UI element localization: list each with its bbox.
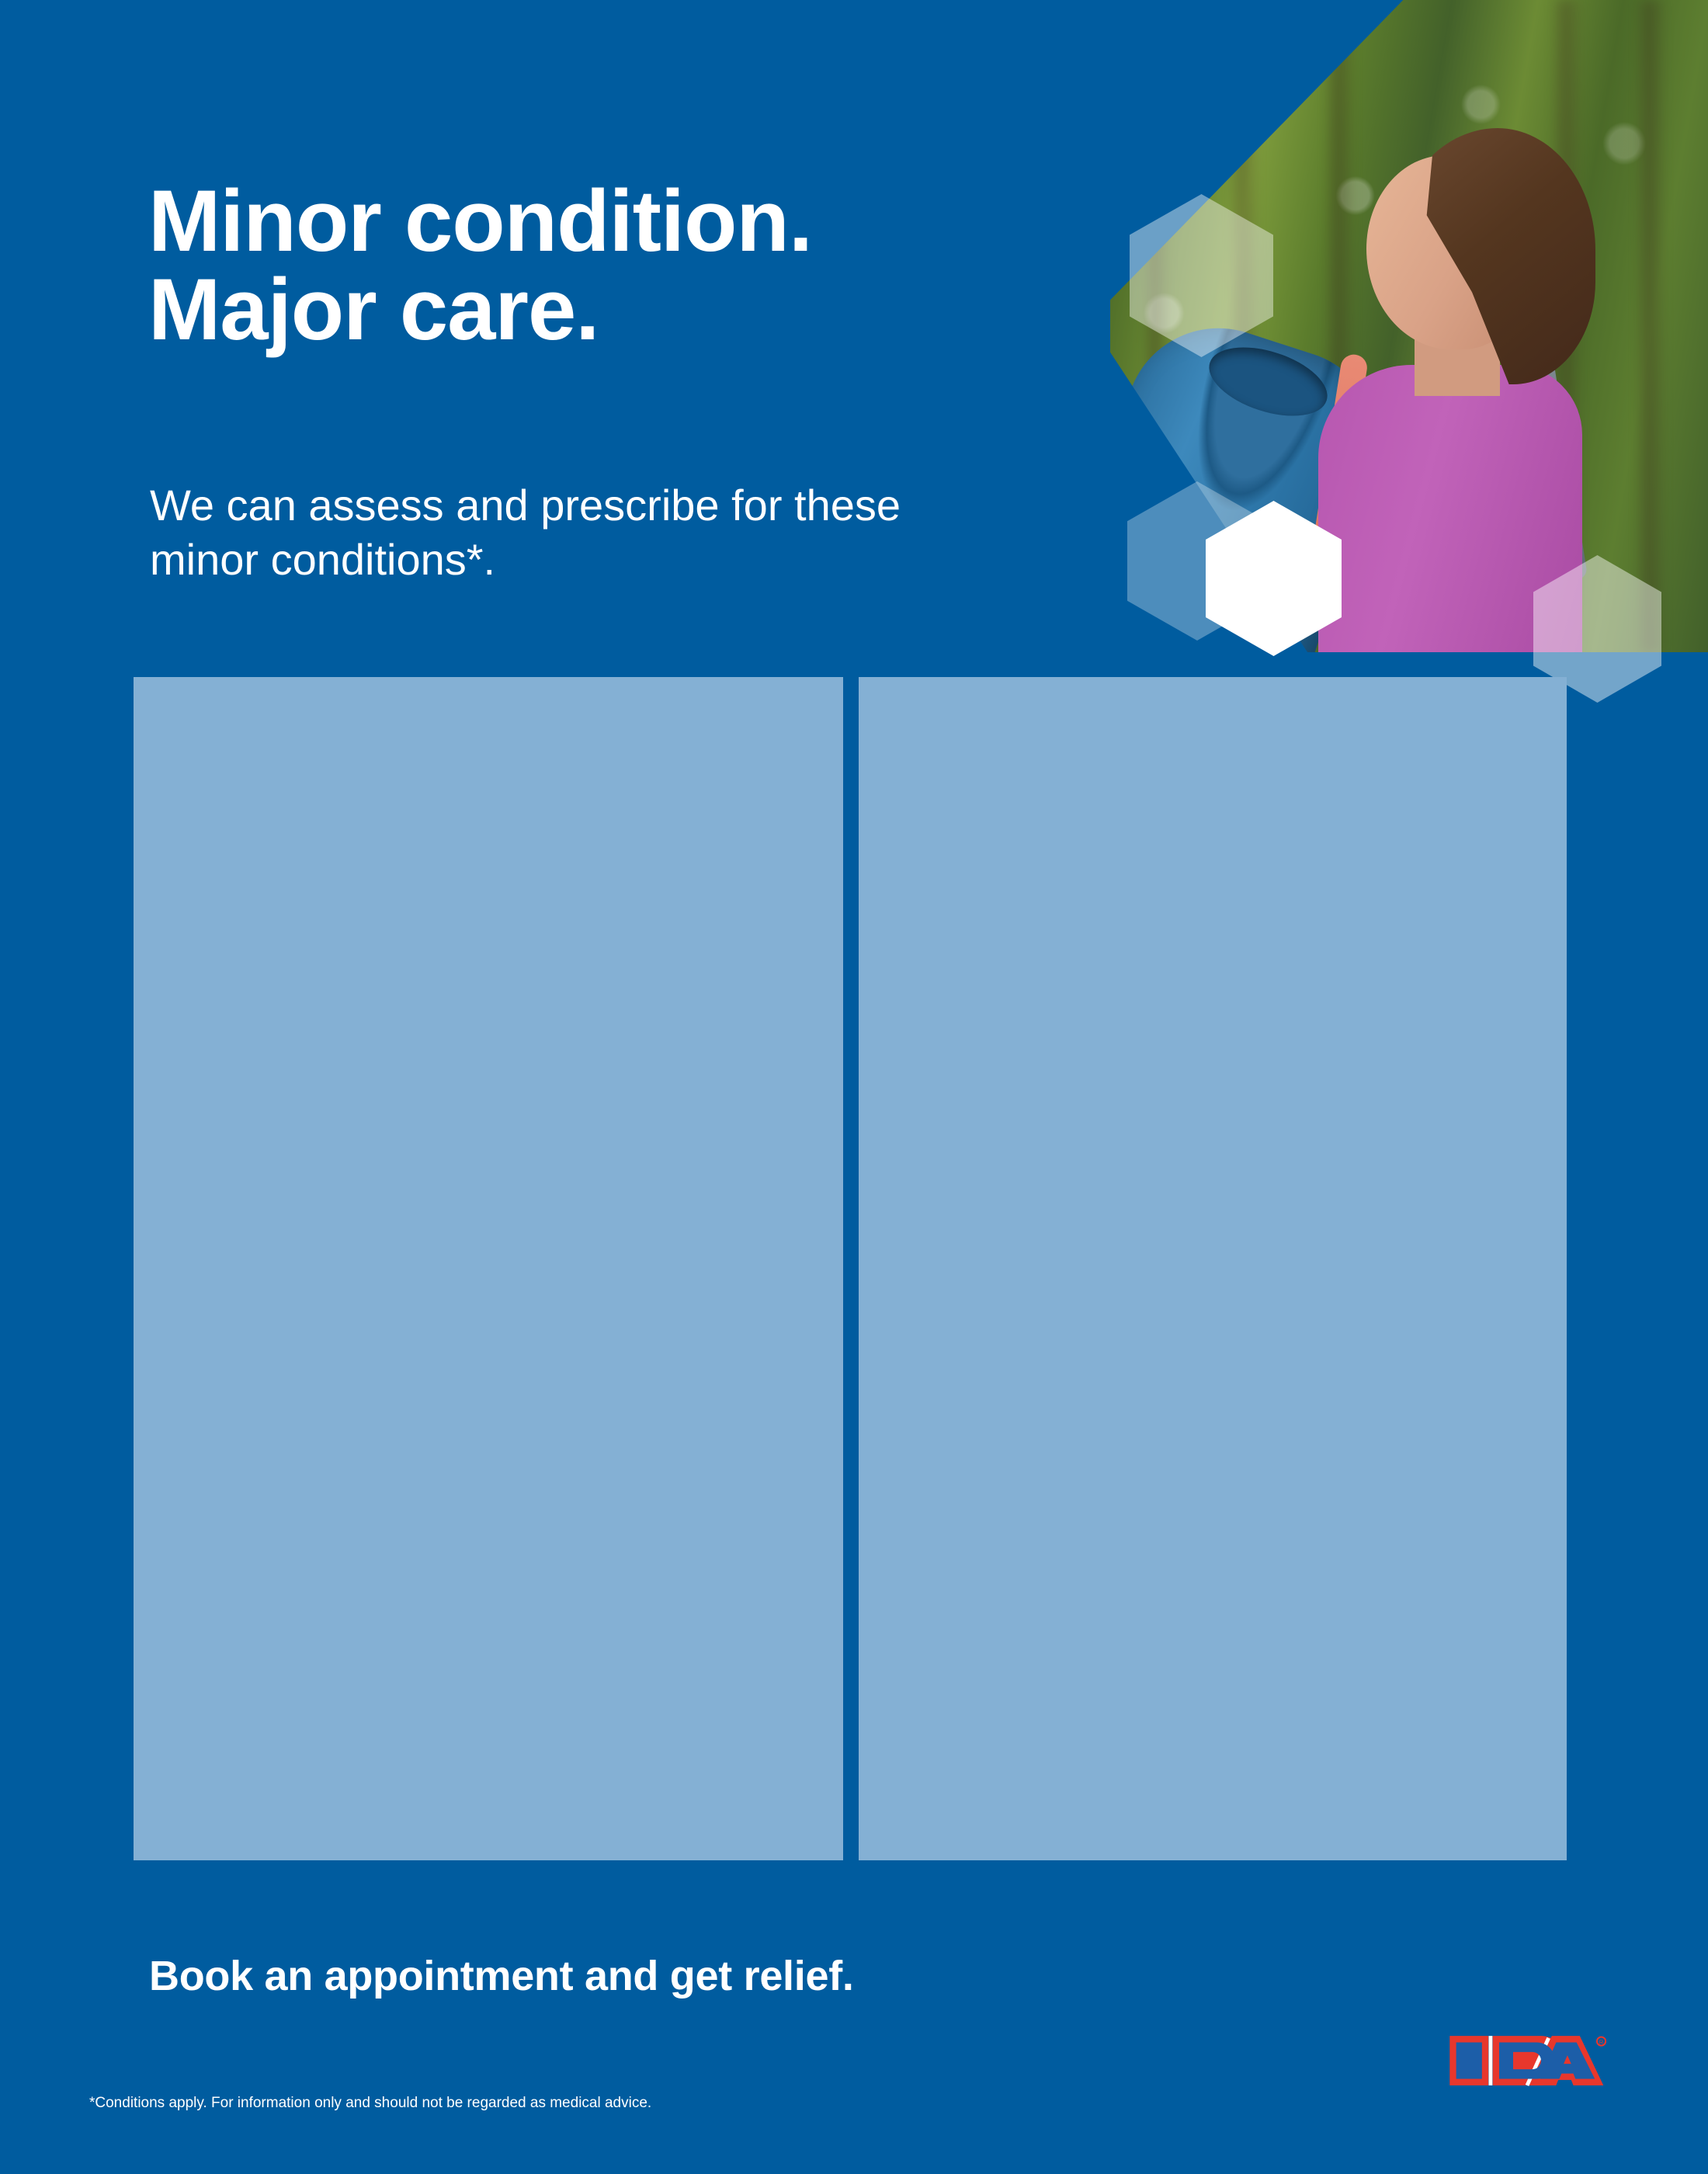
poster-root: Minor condition. Major care. We can asse…: [0, 0, 1708, 2174]
ida-logo: R: [1446, 2033, 1609, 2089]
subheadline: We can assess and prescribe for these mi…: [150, 478, 1066, 587]
subheadline-line-1: We can assess and prescribe for these: [150, 481, 901, 530]
headline-line-2: Major care.: [148, 266, 1080, 354]
svg-text:R: R: [1599, 2039, 1604, 2046]
subheadline-line-2: minor conditions*.: [150, 535, 495, 584]
headline-line-1: Minor condition.: [148, 172, 812, 269]
content-panel-right: [859, 677, 1567, 1860]
page-title: Minor condition. Major care.: [148, 177, 1080, 354]
content-panel-left: [134, 677, 843, 1860]
legal-disclaimer: *Conditions apply. For information only …: [89, 2095, 651, 2112]
cta-text: Book an appointment and get relief.: [149, 1952, 854, 2000]
ida-logo-svg: R: [1446, 2033, 1609, 2089]
